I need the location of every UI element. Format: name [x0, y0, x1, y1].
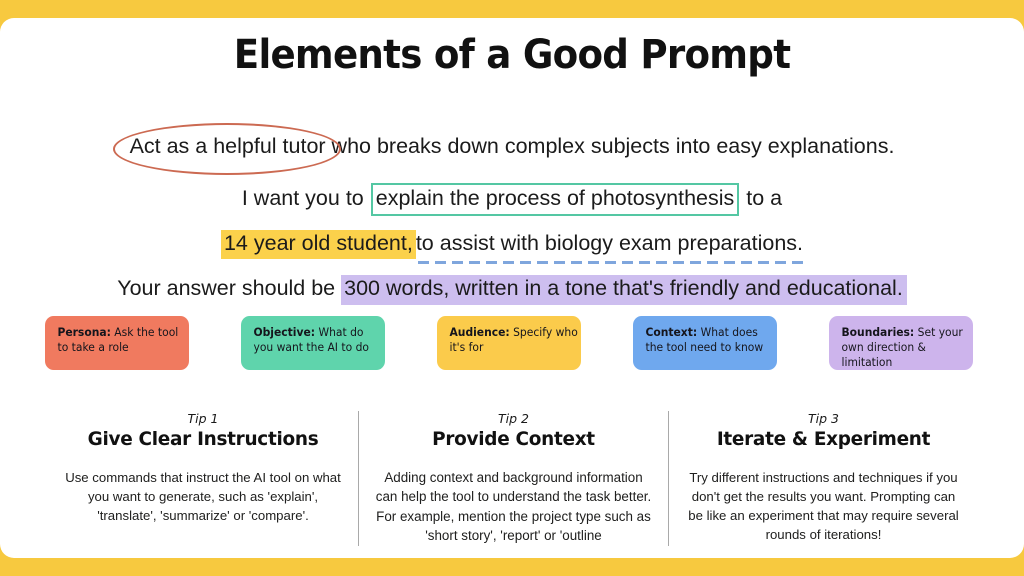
tip-1-heading: Give Clear Instructions [66, 428, 340, 450]
chip-audience: Audience: Specify who it's for [437, 316, 581, 370]
chip-boundaries-label: Boundaries: [841, 326, 914, 339]
chip-objective: Objective: What do you want the AI to do [241, 316, 385, 370]
prompt-line-2: I want you to explain the process of pho… [0, 183, 1024, 216]
prompt-line-2-before: I want you to [242, 186, 370, 210]
chip-context-label: Context: [645, 326, 697, 339]
tip-3: Tip 3 Iterate & Experiment Try different… [668, 411, 978, 546]
prompt-line-2-after: to a [740, 186, 782, 210]
tip-1: Tip 1 Give Clear Instructions Use comman… [48, 411, 358, 546]
prompt-line-3: 14 year old student, to assist with biol… [0, 230, 1024, 259]
chip-objective-label: Objective: [253, 326, 315, 339]
persona-annotation-group: Act as a helpful tutor [130, 136, 326, 158]
boundaries-highlight-text: 300 words, written in a tone that's frie… [341, 275, 907, 305]
audience-highlight-text: 14 year old student, [221, 230, 416, 259]
objective-boxed-text: explain the process of photosynthesis [371, 183, 740, 216]
tip-2: Tip 2 Provide Context Adding context and… [358, 411, 668, 546]
prompt-line-1-rest: who breaks down complex subjects into ea… [326, 134, 895, 158]
slide-frame: Elements of a Good Prompt Act as a helpf… [0, 0, 1024, 576]
tip-2-number: Tip 2 [373, 411, 654, 426]
tips-row: Tip 1 Give Clear Instructions Use comman… [48, 411, 978, 546]
chip-persona: Persona: Ask the tool to take a role [45, 316, 189, 370]
tip-1-body: Use commands that instruct the AI tool o… [62, 468, 344, 525]
chip-audience-label: Audience: [449, 326, 509, 339]
prompt-line-4-before: Your answer should be [117, 276, 341, 300]
element-chips-row: Persona: Ask the tool to take a role Obj… [45, 316, 979, 370]
page-title: Elements of a Good Prompt [36, 32, 988, 78]
tip-3-heading: Iterate & Experiment [687, 428, 960, 450]
tip-2-heading: Provide Context [377, 428, 650, 450]
slide-card: Elements of a Good Prompt Act as a helpf… [0, 18, 1024, 558]
tip-3-body: Try different instructions and technique… [683, 468, 964, 545]
chip-boundaries: Boundaries: Set your own direction & lim… [829, 316, 973, 370]
chip-persona-label: Persona: [57, 326, 110, 339]
prompt-line-4: Your answer should be 300 words, written… [0, 275, 1024, 305]
prompt-persona-text: Act as a helpful tutor [130, 134, 326, 158]
tip-3-number: Tip 3 [683, 411, 964, 426]
tip-2-body: Adding context and background informatio… [373, 468, 654, 546]
prompt-line-1: Act as a helpful tutor who breaks down c… [0, 136, 1024, 158]
context-underlined-text: to assist with biology exam preparations… [416, 233, 803, 255]
chip-context: Context: What does the tool need to know [633, 316, 777, 370]
tip-1-number: Tip 1 [62, 411, 344, 426]
